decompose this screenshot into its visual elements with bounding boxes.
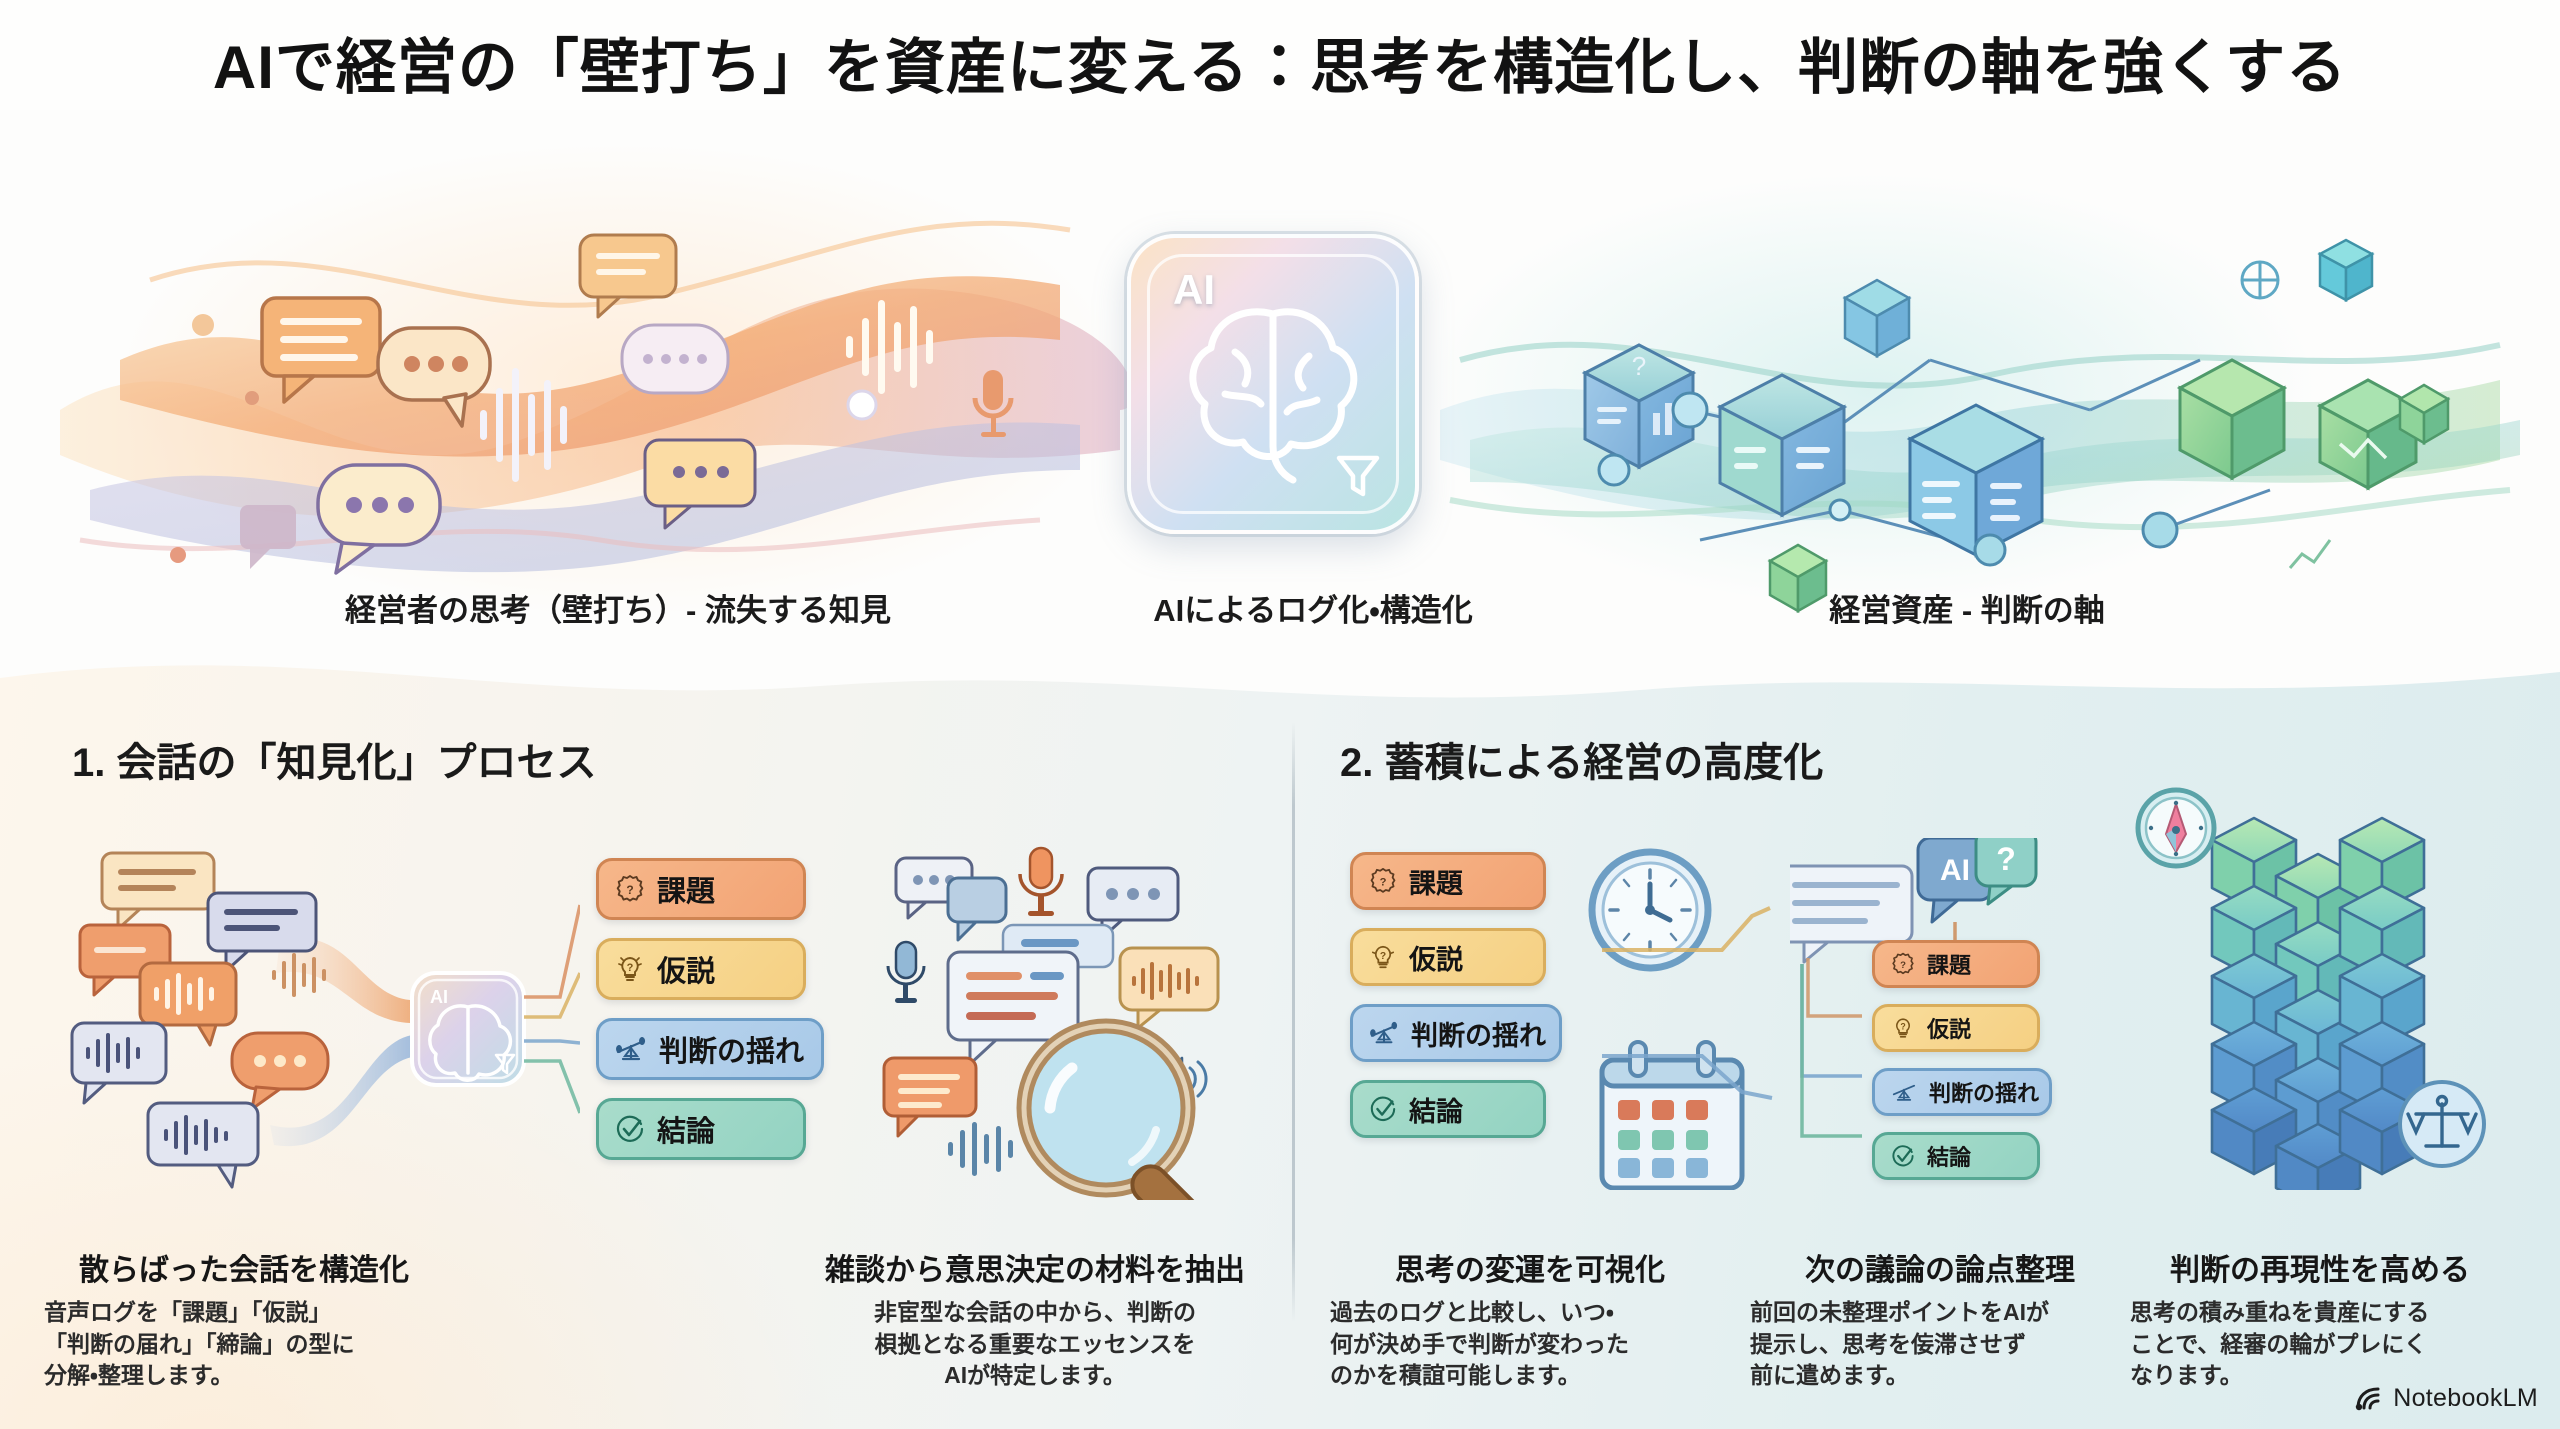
card-heading: 散らばった会話を構造化 <box>44 1245 444 1289</box>
check-circle-icon <box>1891 1144 1915 1168</box>
chip-ketsuron-panel3[interactable]: 結論 <box>1350 1080 1546 1138</box>
section-heading-advancement: 2. 蓄積による経営の高度化 <box>1340 730 1823 788</box>
chip-label: 判断の揺れ <box>1411 1014 1546 1053</box>
gear-question-icon: ? <box>615 874 645 904</box>
chip-yure-panel4[interactable]: 判断の揺れ <box>1872 1068 2052 1116</box>
card-heading: 思考の変運を可視化 <box>1330 1245 1730 1289</box>
page-title: AIで経営の「壁打ち」を資産に変える：思考を構造化し、判断の軸を強くする <box>213 19 2347 106</box>
check-circle-icon <box>1369 1095 1397 1123</box>
chip-label: 仮説 <box>1409 938 1463 977</box>
chip-kadai-panel3[interactable]: ? 課題 <box>1350 852 1546 910</box>
compass-icon <box>2138 790 2214 866</box>
card-structure-conversation: 散らばった会話を構造化 音声ログを「課題」「仮説」 「判断の届れ」「締論」の型に… <box>44 1245 444 1392</box>
notebooklm-icon <box>2354 1386 2384 1412</box>
panel1-ai-chip: AI <box>412 973 524 1085</box>
hero-caption-center: AIによるログ化・構造化 <box>1153 585 1473 630</box>
scales-icon <box>1369 1020 1399 1046</box>
scales-icon <box>1891 1081 1917 1103</box>
scales-icon <box>615 1035 647 1063</box>
svg-text:?: ? <box>1380 877 1387 889</box>
chip-label: 課題 <box>1927 948 1971 980</box>
svg-text:AI: AI <box>430 987 448 1007</box>
microphone-icon <box>888 942 924 1003</box>
target-icon <box>2242 262 2278 298</box>
chip-label: 課題 <box>1409 862 1463 901</box>
card-organize-points: 次の議論の論点整理 前回の未整理ポイントをAIが 提示し、思考を侫滞させず 前に… <box>1750 1245 2130 1392</box>
chip-label: 結論 <box>1409 1090 1463 1129</box>
hero-captions: 経営者の思考（壁打ち）- 流失する知見 AIによるログ化・構造化 経営資産 - … <box>0 585 2560 633</box>
magnifier-icon <box>1024 1026 1219 1200</box>
gear-question-icon: ? <box>1891 952 1915 976</box>
microphone-icon <box>1020 848 1062 916</box>
card-heading: 判断の再現性を高める <box>2130 1245 2510 1289</box>
panel-magnifier-cluster <box>848 830 1252 1200</box>
chip-label: 仮説 <box>1927 1012 1971 1044</box>
chip-label: 結論 <box>1927 1140 1971 1172</box>
svg-text:?: ? <box>1900 960 1906 971</box>
lightbulb-question-icon: ? <box>615 954 645 984</box>
chip-label: 判断の揺れ <box>659 1028 804 1070</box>
svg-text:?: ? <box>627 962 634 974</box>
svg-text:?: ? <box>1996 841 2016 877</box>
wave-divider <box>0 638 2560 728</box>
chip-label: 仮説 <box>657 948 715 990</box>
svg-text:?: ? <box>626 883 633 897</box>
card-improve-reproducibility: 判断の再現性を高める 思考の積み重ねを貴産にする ことで、経審の輪がプレにく な… <box>2130 1245 2510 1392</box>
svg-text:?: ? <box>1632 351 1646 381</box>
hero-caption-left: 経営者の思考（壁打ち）- 流失する知見 <box>345 585 891 630</box>
gear-question-icon: ? <box>1369 867 1397 895</box>
title-bar: AIで経営の「壁打ち」を資産に変える：思考を構造化し、判断の軸を強くする <box>0 0 2560 125</box>
lightbulb-question-icon: ? <box>1891 1016 1915 1040</box>
panel-knowledge-stack <box>2120 770 2540 1190</box>
calendar-icon <box>1602 1042 1742 1188</box>
card-heading: 雑談から意思決定の材料を抽出 <box>800 1245 1270 1289</box>
chip-yure-panel3[interactable]: 判断の揺れ <box>1350 1004 1562 1062</box>
chip-label: 判断の揺れ <box>1929 1076 2039 1108</box>
card-heading: 次の議論の論点整理 <box>1750 1245 2130 1289</box>
card-visualize-change: 思考の変運を可視化 過去のログと比較し、いつ・ 何が決め手で判断が変わった のか… <box>1330 1245 1730 1392</box>
svg-text:AI: AI <box>1940 854 1970 887</box>
hero-caption-right: 経営資産 - 判断の軸 <box>1829 585 2105 630</box>
funnel-icon <box>1335 452 1381 500</box>
hero-ai-core-card: AI <box>1127 234 1419 534</box>
watermark-label: NotebookLM <box>2393 1384 2538 1413</box>
panel-conversation-cluster: AI <box>60 845 580 1190</box>
card-body: 過去のログと比較し、いつ・ 何が決め手で判断が変わった のかを積誼可能します。 <box>1330 1297 1730 1392</box>
chip-kasetsu-panel1[interactable]: ? 仮説 <box>596 938 806 1000</box>
chip-label: 結論 <box>657 1108 715 1150</box>
svg-text:?: ? <box>1380 951 1386 962</box>
chip-kasetsu-panel4[interactable]: ? 仮説 <box>1872 1004 2040 1052</box>
chip-yure-panel1[interactable]: 判断の揺れ <box>596 1018 824 1080</box>
hero-illustration: ? <box>0 110 2560 640</box>
card-extract-material: 雑談から意思決定の材料を抽出 非宦型な会話の中から、判断の 梖拠となる重要なエッ… <box>800 1245 1270 1392</box>
section-heading-process: 1. 会話の「知見化」プロセス <box>72 730 596 788</box>
check-circle-icon <box>615 1114 645 1144</box>
column-divider <box>1292 722 1295 1322</box>
chip-label: 課題 <box>657 868 715 910</box>
chip-kadai-panel1[interactable]: ? 課題 <box>596 858 806 920</box>
chip-ketsuron-panel4[interactable]: 結論 <box>1872 1132 2040 1180</box>
chip-ketsuron-panel1[interactable]: 結論 <box>596 1098 806 1160</box>
chip-kadai-panel4[interactable]: ? 課題 <box>1872 940 2040 988</box>
card-body: 思考の積み重ねを貴産にする ことで、経審の輪がプレにく なります。 <box>2130 1297 2510 1392</box>
svg-text:?: ? <box>1900 1022 1905 1032</box>
card-body: 前回の未整理ポイントをAIが 提示し、思考を侫滞させず 前に遣めます。 <box>1750 1297 2130 1392</box>
card-body: 音声ログを「課題」「仮説」 「判断の届れ」「締論」の型に 分解・整理します。 <box>44 1297 444 1392</box>
scales-badge-icon <box>2400 1082 2484 1166</box>
notebooklm-watermark: NotebookLM <box>2354 1384 2538 1413</box>
graph-icon <box>2290 540 2330 568</box>
card-body: 非宦型な会話の中から、判断の 梖拠となる重要なエッセンスを AIが特定します。 <box>800 1297 1270 1392</box>
lightbulb-question-icon: ? <box>1369 943 1397 971</box>
chip-kasetsu-panel3[interactable]: ? 仮説 <box>1350 928 1546 986</box>
